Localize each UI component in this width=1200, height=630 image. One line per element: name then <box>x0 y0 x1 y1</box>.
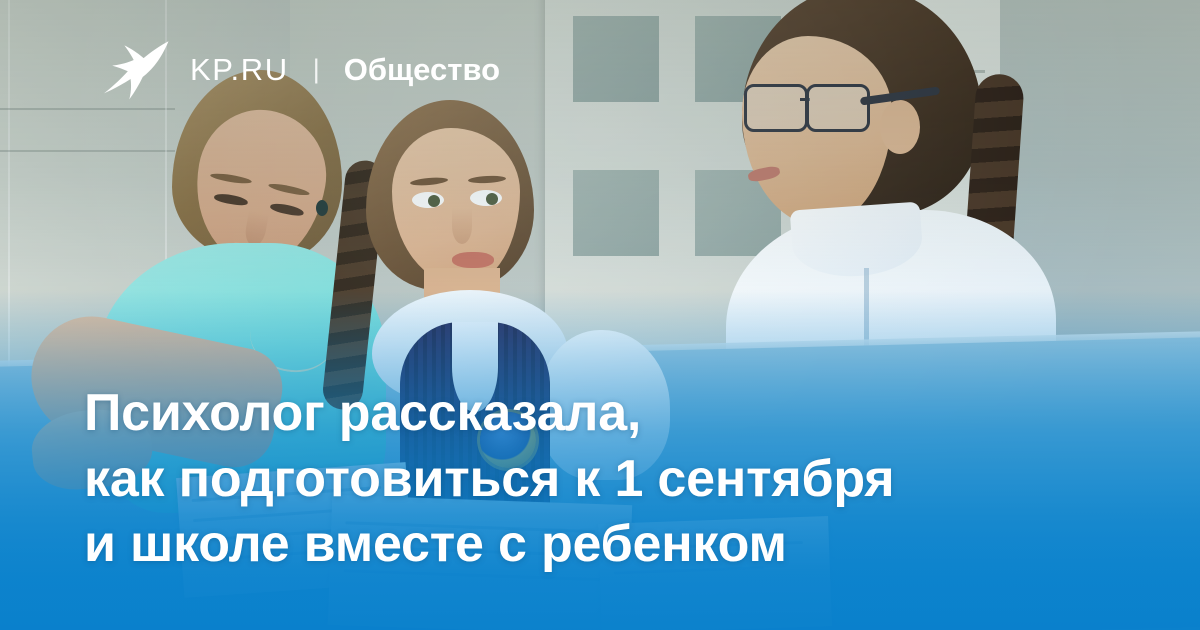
headline-line-2: как подготовиться к 1 сентября <box>84 447 894 513</box>
headline-line-1: Психолог рассказала, <box>84 381 894 447</box>
brand-name[interactable]: KP.RU <box>190 54 289 85</box>
social-share-card: KP.RU | Общество Психолог рассказала, ка… <box>0 0 1200 630</box>
swallow-bird-logo-icon[interactable] <box>98 38 170 100</box>
headline: Психолог рассказала, как подготовиться к… <box>84 381 894 578</box>
brand-bar: KP.RU | Общество <box>98 38 500 100</box>
headline-line-3: и школе вместе с ребенком <box>84 512 894 578</box>
brand-separator: | <box>313 56 320 83</box>
rubric-label[interactable]: Общество <box>344 54 500 85</box>
